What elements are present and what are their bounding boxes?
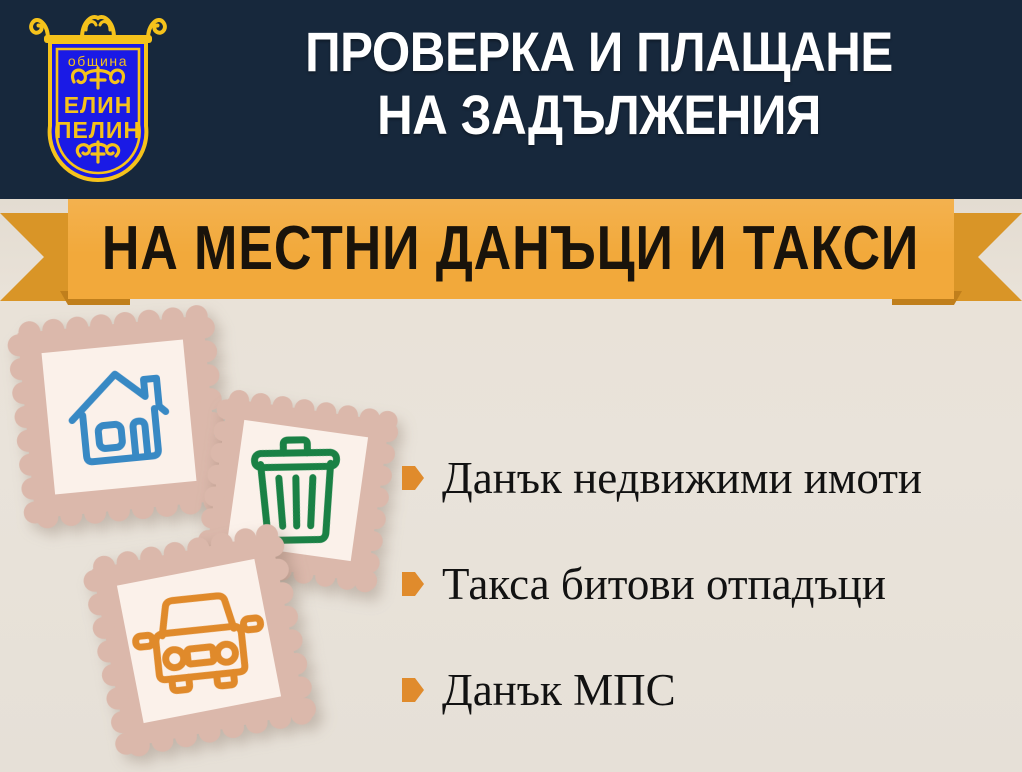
list-item-label: Такса битови отпадъци: [442, 559, 886, 609]
list-item-label: Данък недвижими имоти: [442, 453, 922, 503]
list-item-label: Данък МПС: [442, 665, 676, 715]
list-item[interactable]: Данък МПС: [402, 637, 1012, 743]
ribbon-label: НА МЕСТНИ ДАНЪЦИ И ТАКСИ: [102, 218, 919, 280]
tax-types-list: Данък недвижими имоти Такса битови отпад…: [402, 425, 1012, 743]
page-title-line-2: НА ЗАДЪЛЖЕНИЯ: [236, 83, 963, 146]
ribbon-body: НА МЕСТНИ ДАНЪЦИ И ТАКСИ: [68, 199, 954, 299]
subtitle-ribbon: НА МЕСТНИ ДАНЪЦИ И ТАКСИ: [0, 199, 1022, 307]
arrow-bullet-icon: [402, 678, 424, 702]
page-title: ПРОВЕРКА И ПЛАЩАНЕ НА ЗАДЪЛЖЕНИЯ: [236, 20, 963, 146]
page-title-line-1: ПРОВЕРКА И ПЛАЩАНЕ: [305, 20, 893, 83]
arrow-bullet-icon: [402, 572, 424, 596]
svg-text:ПЕЛИН: ПЕЛИН: [55, 117, 141, 143]
list-item[interactable]: Данък недвижими имоти: [402, 425, 1012, 531]
stamp-paper-property: [42, 340, 197, 495]
stamp-card-property: [4, 302, 233, 531]
stamp-card-vehicle: [78, 520, 320, 762]
svg-text:ЕЛИН: ЕЛИН: [64, 92, 133, 118]
coat-of-arms-icon: община ЕЛИН ПЕЛИН: [24, 8, 172, 188]
header-banner: община ЕЛИН ПЕЛИН: [0, 0, 1022, 199]
poster-canvas: община ЕЛИН ПЕЛИН: [0, 0, 1022, 772]
arrow-bullet-icon: [402, 466, 424, 490]
list-item[interactable]: Такса битови отпадъци: [402, 531, 1012, 637]
stamp-paper-vehicle: [117, 559, 281, 723]
